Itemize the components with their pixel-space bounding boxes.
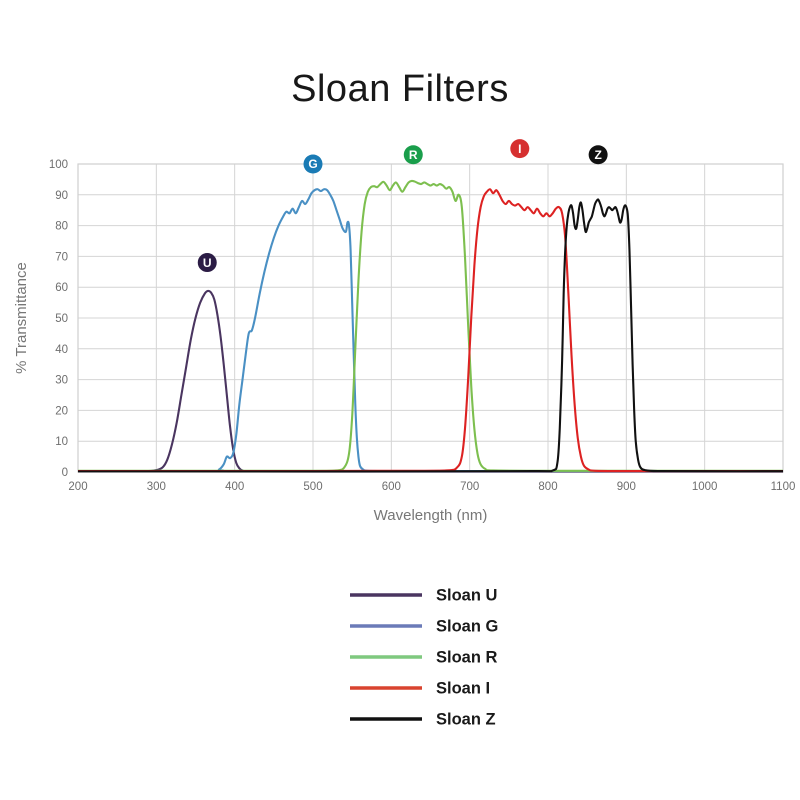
y-tick-label: 50 xyxy=(55,313,68,325)
badge-g[interactable]: G xyxy=(304,155,323,174)
legend-label: Sloan I xyxy=(436,680,490,698)
x-axis-ticks: 20030040050060070080090010001100 xyxy=(68,481,795,493)
grid-lines xyxy=(78,164,783,472)
curve-sloan-g xyxy=(78,189,783,471)
badge-label: Z xyxy=(594,148,601,162)
y-tick-label: 20 xyxy=(55,405,68,417)
badge-label: I xyxy=(518,142,521,156)
badge-i[interactable]: I xyxy=(510,139,529,158)
x-axis-label: Wavelength (nm) xyxy=(374,507,488,524)
series-badges: UGRIZ xyxy=(198,139,608,272)
x-tick-label: 500 xyxy=(303,481,322,493)
y-tick-label: 40 xyxy=(55,344,68,356)
badge-label: U xyxy=(203,256,212,270)
y-tick-label: 80 xyxy=(55,221,68,233)
legend-item-sloan-i[interactable]: Sloan I xyxy=(350,680,490,698)
curve-sloan-i xyxy=(78,189,783,471)
data-curves xyxy=(78,181,783,472)
legend-item-sloan-r[interactable]: Sloan R xyxy=(350,649,498,667)
y-tick-label: 10 xyxy=(55,436,68,448)
badge-label: G xyxy=(308,157,317,171)
y-tick-label: 30 xyxy=(55,375,68,387)
y-axis-ticks: 0102030405060708090100 xyxy=(49,159,68,479)
legend-label: Sloan R xyxy=(436,649,498,667)
y-tick-label: 0 xyxy=(62,467,68,479)
legend-item-sloan-g[interactable]: Sloan G xyxy=(350,618,498,636)
legend-item-sloan-u[interactable]: Sloan U xyxy=(350,587,497,605)
sloan-filters-plot: UGRIZ 20030040050060070080090010001100 0… xyxy=(0,0,800,800)
legend-label: Sloan U xyxy=(436,587,497,605)
badge-r[interactable]: R xyxy=(404,145,423,164)
legend-label: Sloan G xyxy=(436,618,498,636)
legend-label: Sloan Z xyxy=(436,711,496,729)
y-tick-label: 100 xyxy=(49,159,68,171)
curve-sloan-r xyxy=(78,181,783,471)
y-axis-label: % Transmittance xyxy=(13,262,30,374)
x-tick-label: 900 xyxy=(617,481,636,493)
page-title: Sloan Filters xyxy=(0,68,800,111)
x-tick-label: 400 xyxy=(225,481,244,493)
badge-z[interactable]: Z xyxy=(589,145,608,164)
x-tick-label: 300 xyxy=(147,481,166,493)
chart-legend: Sloan USloan GSloan RSloan ISloan Z xyxy=(350,587,498,729)
badge-u[interactable]: U xyxy=(198,253,217,272)
y-tick-label: 70 xyxy=(55,251,68,263)
x-tick-label: 1000 xyxy=(692,481,718,493)
chart-container: Sloan Filters UGRIZ 20030040050060070080… xyxy=(0,0,800,800)
x-tick-label: 800 xyxy=(538,481,557,493)
y-tick-label: 60 xyxy=(55,282,68,294)
x-tick-label: 700 xyxy=(460,481,479,493)
y-tick-label: 90 xyxy=(55,190,68,202)
curve-sloan-z xyxy=(78,199,783,471)
x-tick-label: 600 xyxy=(382,481,401,493)
x-tick-label: 1100 xyxy=(771,481,796,493)
x-tick-label: 200 xyxy=(68,481,87,493)
badge-label: R xyxy=(409,148,418,162)
legend-item-sloan-z[interactable]: Sloan Z xyxy=(350,711,496,729)
